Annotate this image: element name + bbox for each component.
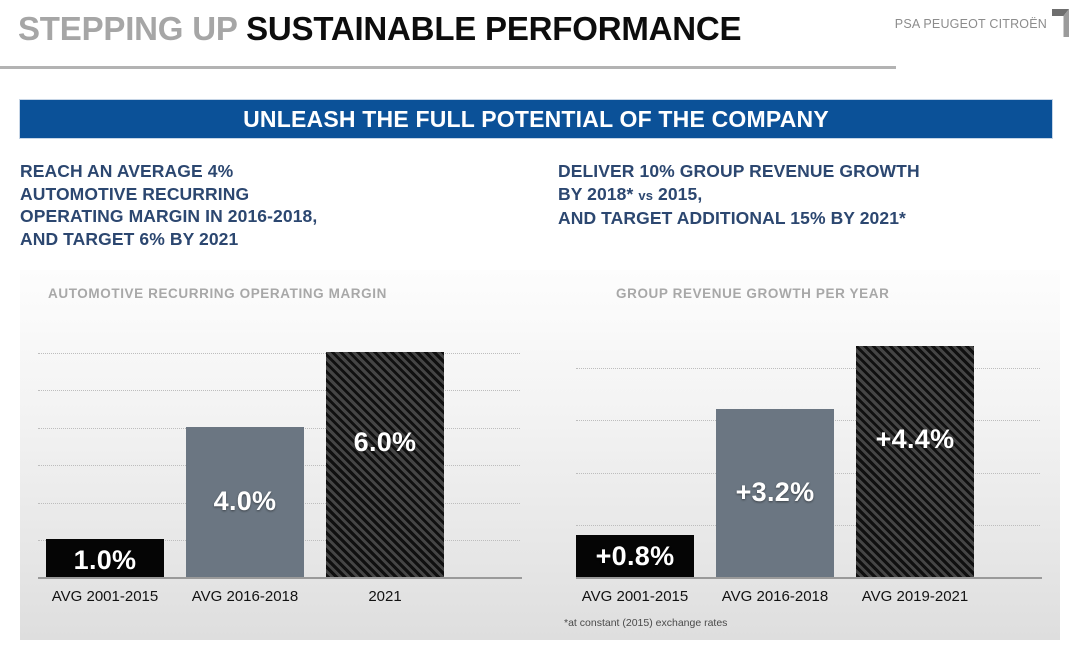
bar-value-2021: 6.0% (326, 427, 444, 458)
section-banner: UNLEASH THE FULL POTENTIAL OF THE COMPAN… (20, 100, 1052, 138)
page-title-bold: SUSTAINABLE PERFORMANCE (246, 10, 741, 47)
category-label-avg-2016-2018: AVG 2016-2018 (186, 588, 304, 605)
left-objective-text: REACH AN AVERAGE 4% AUTOMOTIVE RECURRING… (20, 160, 500, 250)
bar-avg-2016-2018: +3.2% (716, 409, 834, 577)
chart-title-operating-margin: AUTOMOTIVE RECURRING OPERATING MARGIN (48, 286, 387, 301)
left-objective-line-1: REACH AN AVERAGE 4% (20, 160, 500, 183)
left-objective-line-3: OPERATING MARGIN IN 2016-2018, (20, 205, 500, 228)
category-label-avg-2001-2015: AVG 2001-2015 (46, 588, 164, 605)
chart-axis-line (38, 577, 522, 579)
bar-value-avg-2001-2015: +0.8% (576, 541, 694, 572)
bar-value-avg-2016-2018: 4.0% (186, 486, 304, 517)
slide-header: STEPPING UP SUSTAINABLE PERFORMANCE PSA … (0, 0, 1080, 90)
bar-value-avg-2019-2021: +4.4% (856, 424, 974, 455)
header-divider (0, 66, 896, 69)
psa-brand-mark-icon (1050, 8, 1070, 38)
right-objective-line-1: DELIVER 10% GROUP REVENUE GROWTH (558, 160, 1058, 183)
right-objective-line-2a: BY 2018* (558, 184, 633, 204)
bar-avg-2001-2015: 1.0% (46, 539, 164, 577)
category-label-avg-2001-2015: AVG 2001-2015 (576, 588, 694, 605)
bar-avg-2016-2018: 4.0% (186, 427, 304, 577)
category-label-2021: 2021 (326, 588, 444, 605)
gridline (38, 390, 520, 391)
left-objective-line-4: AND TARGET 6% BY 2021 (20, 228, 500, 251)
chart-plot-revenue-growth: +0.8% +3.2% +4.4% (540, 316, 1060, 579)
right-objective-vs: vs (638, 188, 653, 203)
bar-value-avg-2001-2015: 1.0% (46, 545, 164, 576)
chart-panel-revenue-growth: GROUP REVENUE GROWTH PER YEAR +0.8% +3.2… (540, 270, 1060, 640)
chart-panel-operating-margin: AUTOMOTIVE RECURRING OPERATING MARGIN 1.… (20, 270, 540, 640)
bar-2021: 6.0% (326, 352, 444, 577)
right-objective-line-2c: 2015, (658, 184, 702, 204)
section-banner-label: UNLEASH THE FULL POTENTIAL OF THE COMPAN… (243, 106, 829, 133)
bar-value-avg-2016-2018: +3.2% (716, 477, 834, 508)
chart-plot-operating-margin: 1.0% 4.0% 6.0% (20, 316, 540, 579)
right-objective-line-2: BY 2018* vs 2015, (558, 183, 1058, 208)
psa-peugeot-citroen-logo: PSA PEUGEOT CITROËN (895, 8, 1070, 38)
right-objective-text: DELIVER 10% GROUP REVENUE GROWTH BY 2018… (558, 160, 1058, 230)
chart-axis-line (576, 577, 1042, 579)
left-objective-line-2: AUTOMOTIVE RECURRING (20, 183, 500, 206)
chart-title-revenue-growth: GROUP REVENUE GROWTH PER YEAR (616, 286, 889, 301)
right-objective-line-3: AND TARGET ADDITIONAL 15% BY 2021* (558, 207, 1058, 230)
page-title-light: STEPPING UP (18, 10, 246, 47)
bar-avg-2019-2021: +4.4% (856, 346, 974, 577)
page-title: STEPPING UP SUSTAINABLE PERFORMANCE (18, 10, 741, 48)
brand-name-label: PSA PEUGEOT CITROËN (895, 8, 1047, 31)
gridline (38, 353, 520, 354)
category-label-avg-2019-2021: AVG 2019-2021 (856, 588, 974, 605)
bar-avg-2001-2015: +0.8% (576, 535, 694, 577)
category-label-avg-2016-2018: AVG 2016-2018 (716, 588, 834, 605)
exchange-rate-footnote: *at constant (2015) exchange rates (564, 617, 727, 629)
